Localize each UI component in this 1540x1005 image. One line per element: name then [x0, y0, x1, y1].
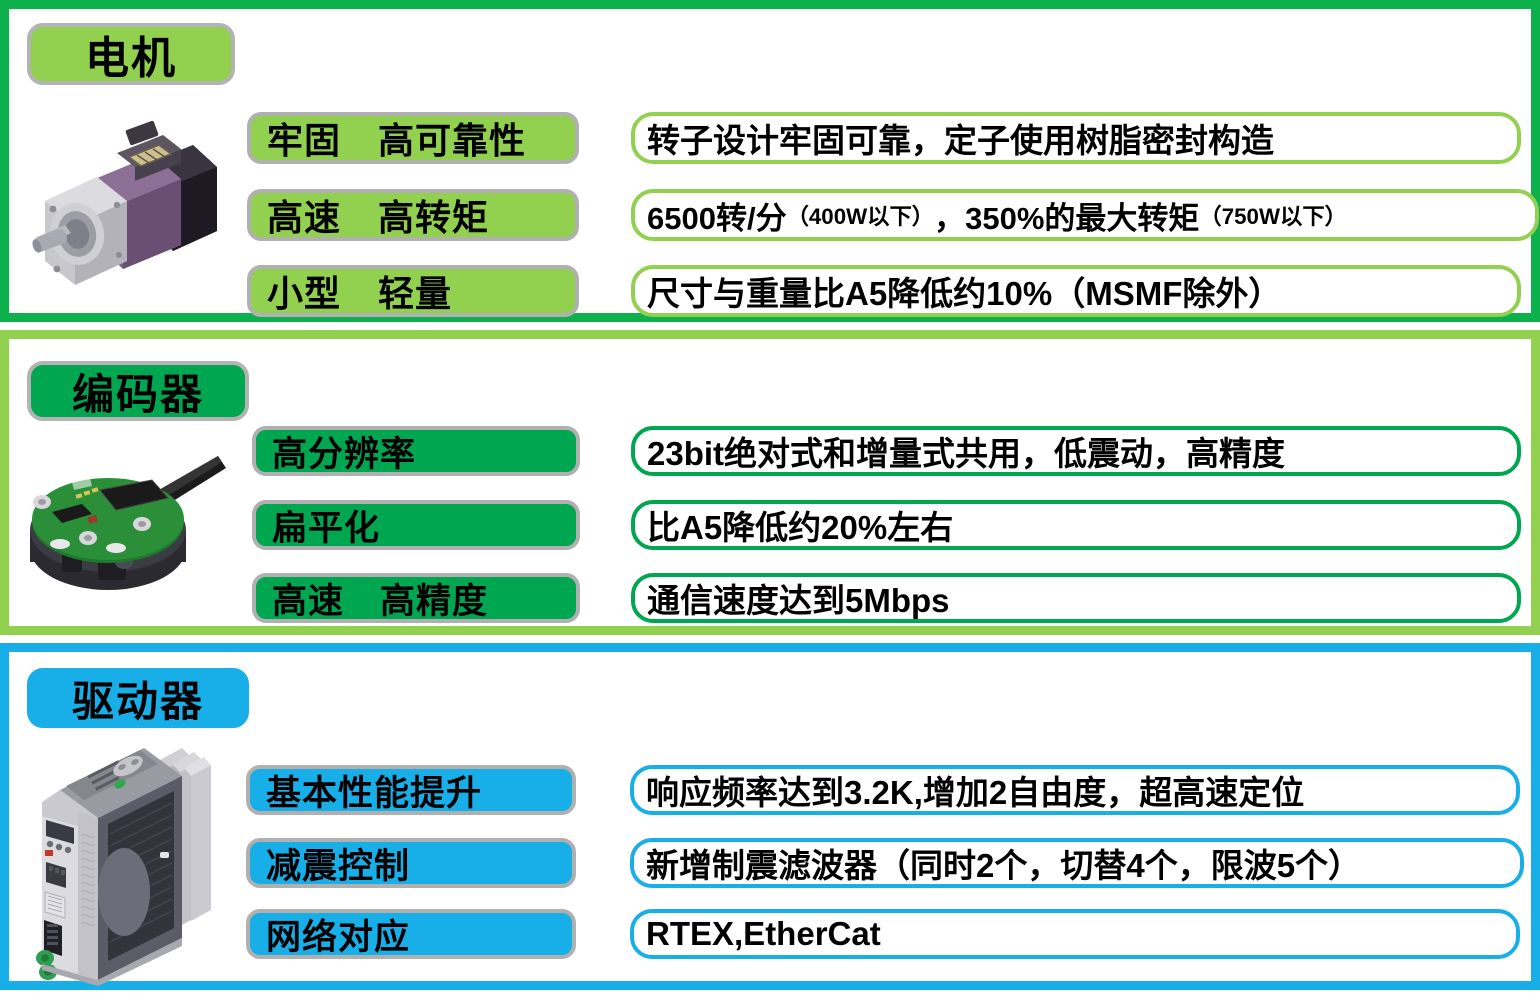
feature-description-pill: 23bit绝对式和增量式共用，低震动，高精度: [631, 426, 1521, 476]
feature-label-pill: 网络对应: [246, 909, 576, 959]
feature-label-text: 减震控制: [266, 838, 410, 888]
section-title-badge-driver: 驱动器: [27, 668, 249, 728]
feature-description-text: 转子设计牢固可靠，定子使用树脂密封构造: [647, 114, 1274, 162]
feature-label-pill: 高速 高精度: [252, 573, 580, 623]
feature-label-pill: 小型 轻量: [247, 265, 579, 317]
feature-description-pill: 通信速度达到5Mbps: [631, 573, 1521, 623]
feature-label-text: 扁平化: [272, 500, 380, 550]
feature-label-pill: 高速 高转矩: [247, 189, 579, 241]
feature-description-text: 尺寸与重量比A5降低约10%（MSMF除外）: [647, 267, 1281, 315]
feature-description-text: RTEX,EtherCat: [646, 915, 881, 953]
feature-label-text: 高分辨率: [272, 426, 416, 476]
feature-label-text: 高速 高精度: [272, 573, 488, 623]
section-title-badge-motor: 电机: [27, 23, 235, 85]
section-title-text: 驱动器: [72, 668, 204, 729]
feature-description-pill: 新增制震滤波器（同时2个，切替4个，限波5个）: [630, 838, 1524, 888]
feature-label-pill: 扁平化: [252, 500, 580, 550]
feature-label-pill: 牢固 高可靠性: [247, 112, 579, 164]
feature-description-pill: 响应频率达到3.2K,增加2自由度，超高速定位: [630, 765, 1520, 815]
feature-description-pill: 转子设计牢固可靠，定子使用树脂密封构造: [631, 112, 1521, 164]
feature-description-text: 23bit绝对式和增量式共用，低震动，高精度: [647, 427, 1285, 475]
servo-motor-photo: [31, 105, 231, 315]
feature-description-text-part: ，350%的最大转矩: [934, 193, 1199, 238]
section-title-text: 电机: [85, 22, 177, 86]
feature-label-text: 高速 高转矩: [267, 189, 489, 241]
feature-description-text-part: 6500转/分: [647, 193, 787, 238]
feature-description-pill: RTEX,EtherCat: [630, 909, 1520, 959]
servo-driver-photo: [32, 742, 232, 987]
feature-description-pill: 6500转/分（400W以下），350%的最大转矩（750W以下）: [631, 189, 1539, 241]
section-motor: 电机: [0, 0, 1540, 322]
feature-label-pill: 基本性能提升: [246, 765, 576, 815]
feature-label-text: 牢固 高可靠性: [267, 112, 526, 164]
feature-description-text: 响应频率达到3.2K,增加2自由度，超高速定位: [646, 766, 1304, 814]
feature-label-text: 网络对应: [266, 909, 410, 959]
section-title-text: 编码器: [72, 361, 204, 422]
feature-description-text: 新增制震滤波器（同时2个，切替4个，限波5个）: [646, 839, 1361, 887]
slide-root: 电机: [0, 0, 1540, 1005]
feature-label-pill: 高分辨率: [252, 426, 580, 476]
encoder-photo: [12, 442, 232, 617]
feature-description-text: 比A5降低约20%左右: [647, 501, 953, 549]
feature-label-text: 基本性能提升: [266, 765, 482, 815]
feature-description-pill: 比A5降低约20%左右: [631, 500, 1521, 550]
feature-description-note: （750W以下）: [1199, 199, 1347, 231]
feature-description-note: （400W以下）: [787, 199, 935, 231]
section-title-badge-encoder: 编码器: [27, 361, 249, 421]
feature-label-pill: 减震控制: [246, 838, 576, 888]
feature-label-text: 小型 轻量: [267, 265, 452, 317]
feature-description-pill: 尺寸与重量比A5降低约10%（MSMF除外）: [631, 265, 1521, 317]
feature-description-text: 通信速度达到5Mbps: [647, 574, 950, 622]
